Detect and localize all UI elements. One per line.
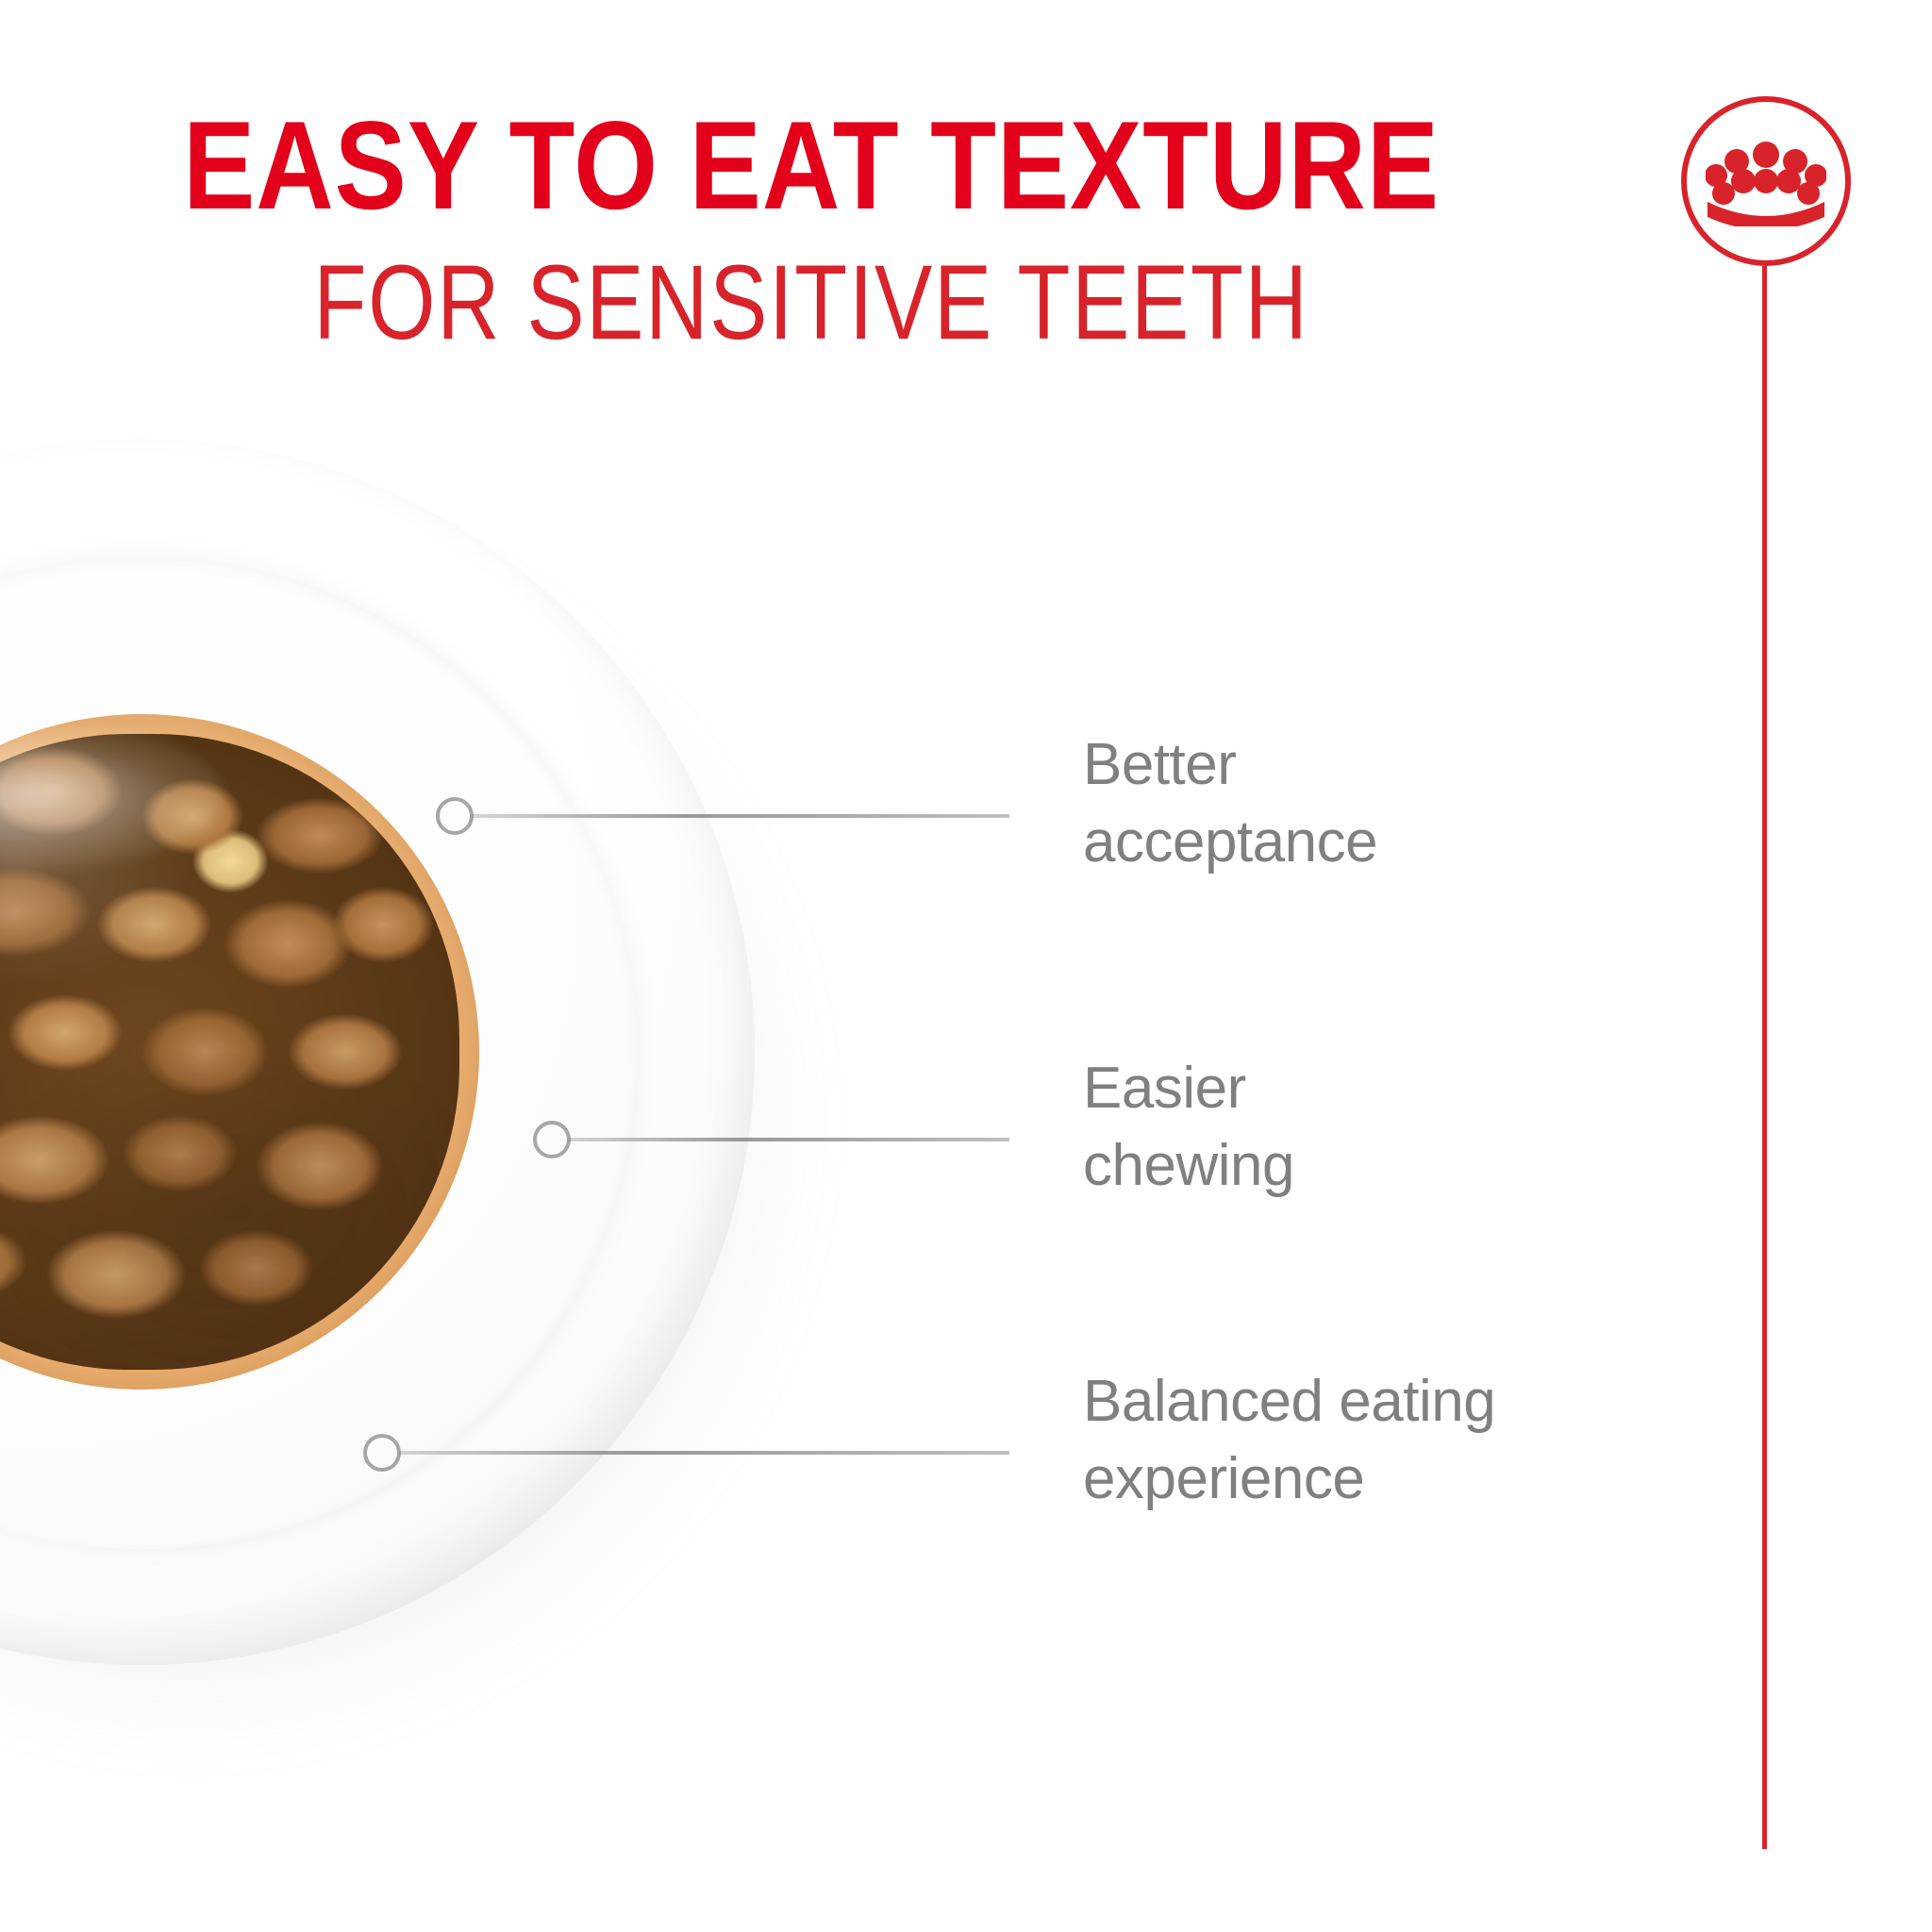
callout-leader-line [569,1138,1009,1141]
callout-leader-line [472,814,1009,818]
logo-connector-line [1762,266,1767,1849]
page-title: EASY TO EAT TEXTURE [113,104,1508,229]
brand-logo [1681,96,1851,266]
page-subtitle: FOR SENSITIVE TEETH [146,250,1476,356]
gravy [0,714,479,1390]
heading-block: EASY TO EAT TEXTURE FOR SENSITIVE TEETH [0,104,1623,356]
callout-leader-line [399,1451,1009,1455]
callout-label: Balanced eating experience [1083,1363,1743,1518]
callout-marker-icon[interactable] [533,1121,571,1158]
callout-marker-icon[interactable] [363,1434,401,1472]
callout-marker-icon[interactable] [436,797,474,835]
royal-canin-crown-icon [1706,140,1826,226]
callout-label: Easier chewing [1083,1050,1687,1205]
callout-label: Better acceptance [1083,726,1687,881]
bowl-inner-rim [0,556,639,1549]
promo-banner: EASY TO EAT TEXTURE FOR SENSITIVE TEETH [0,0,1932,1932]
